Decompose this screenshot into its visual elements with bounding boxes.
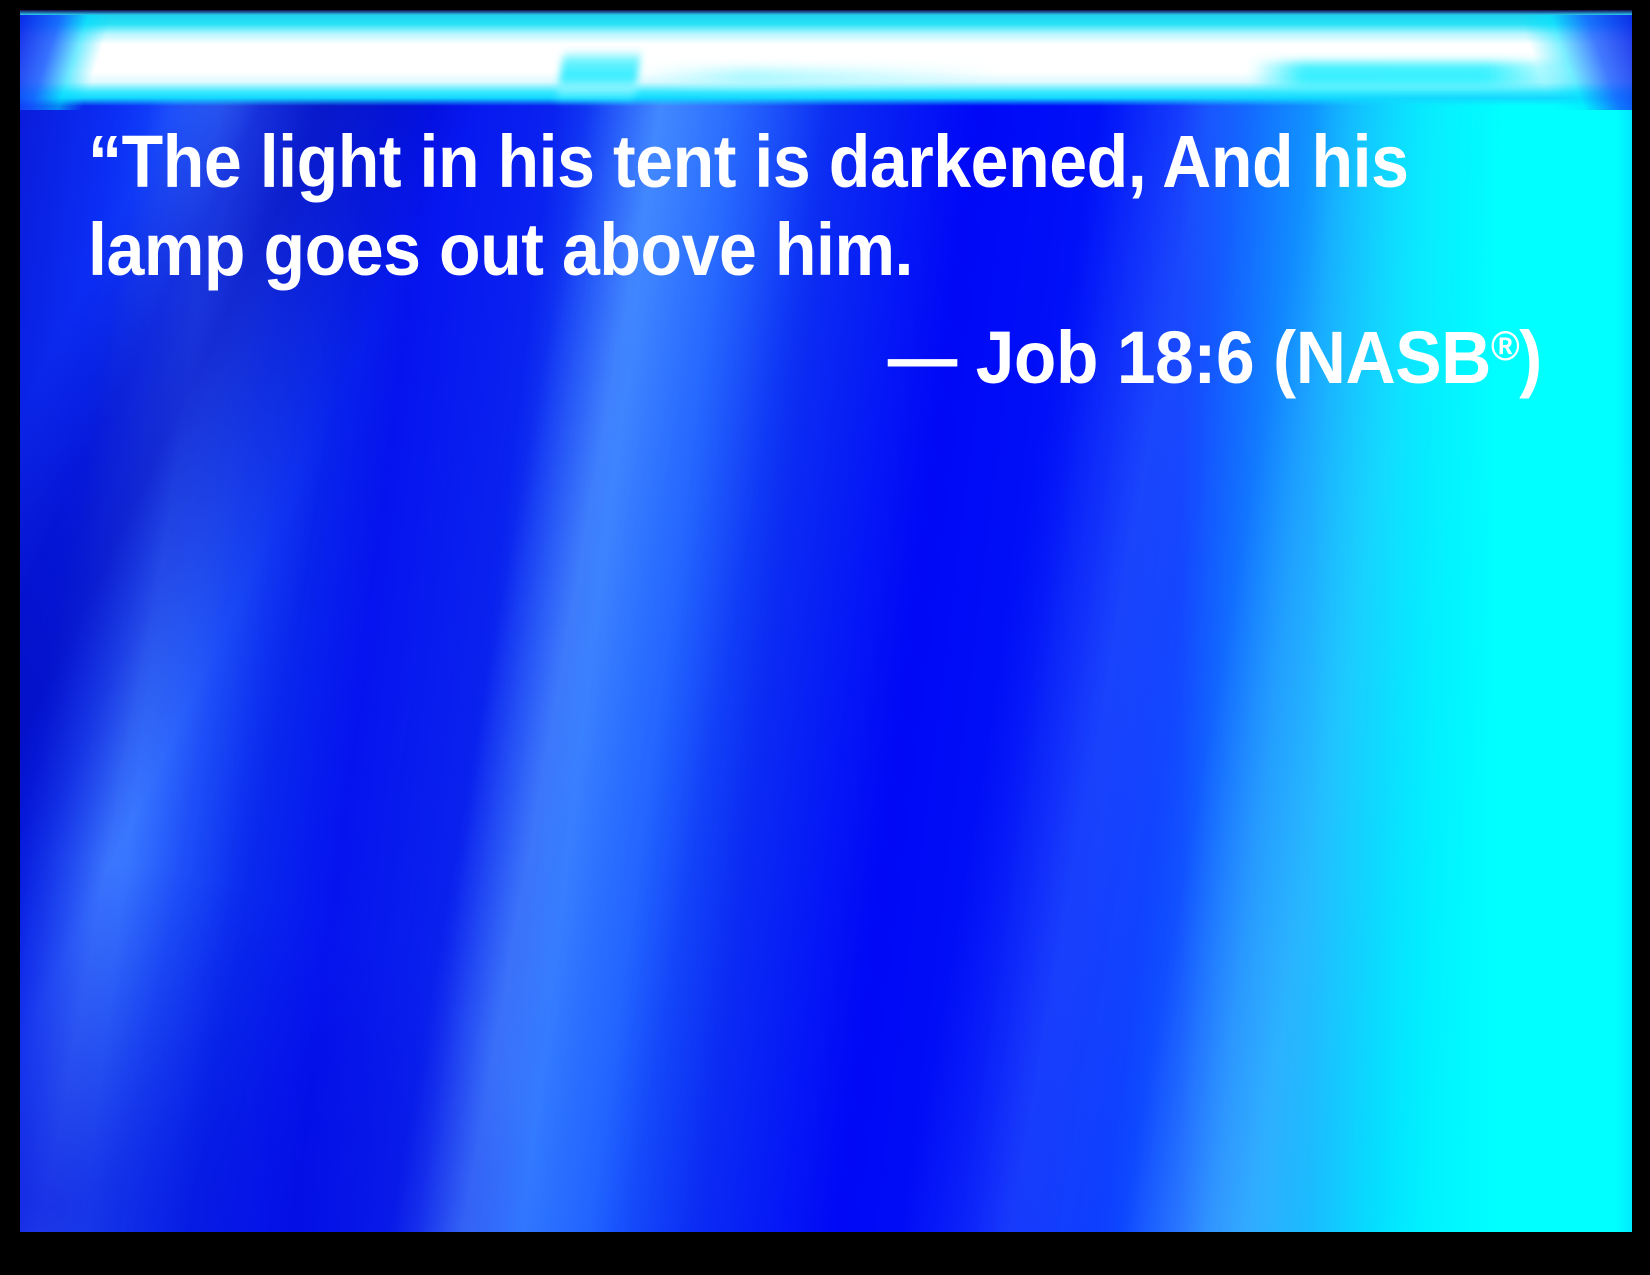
verse-attribution: — Job 18:6 (NASB®) [88,300,1548,404]
glow-band-center-streak [640,68,1000,86]
slide-artwork-area: “The light in his tent is darkened, And … [20,10,1632,1232]
attribution-reference: Job 18:6 [976,316,1254,399]
glow-band-right-taper [1482,10,1632,110]
verse-line-2: lamp goes out above him. [88,206,1431,294]
attribution-em-dash: — [888,316,957,399]
glow-band-top-edge-line [20,10,1632,15]
attribution-translation-close: ) [1519,316,1542,399]
verse-text-block: “The light in his tent is darkened, And … [88,118,1548,404]
attribution-inner: — Job 18:6 (NASB®) [888,300,1542,404]
glow-band-cyan-notch [556,50,641,100]
registered-trademark-icon: ® [1491,322,1519,369]
verse-line-1: “The light in his tent is darkened, And … [88,118,1431,206]
attribution-translation-open: (NASB [1273,316,1491,399]
top-glow-band [20,10,1632,110]
verse-slide: “The light in his tent is darkened, And … [0,0,1650,1275]
glow-band-white-core [20,10,1632,110]
glow-band-left-taper [20,10,140,110]
